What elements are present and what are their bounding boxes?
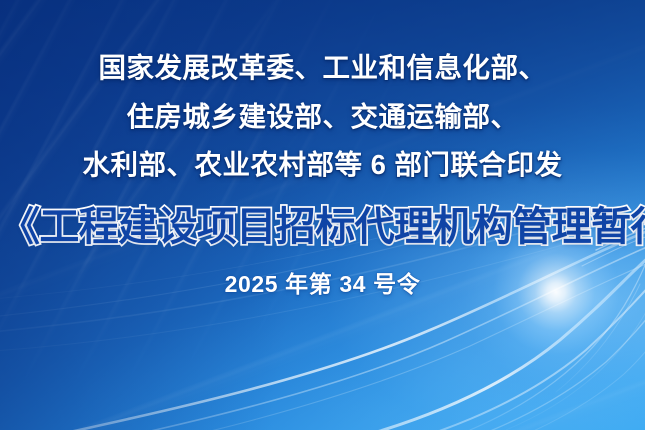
policy-announcement-poster: 国家发展改革委、工业和信息化部、 住房城乡建设部、交通运输部、 水利部、农业农村… (0, 0, 645, 430)
decree-number: 2025 年第 34 号令 (0, 273, 645, 296)
headline-line-3: 水利部、农业农村部等 6 部门联合印发 (0, 151, 645, 179)
headline-line-1: 国家发展改革委、工业和信息化部、 (0, 54, 645, 82)
document-title: 《工程建设项目招标代理机构管理暂行办法》 (0, 206, 645, 249)
poster-text-content: 国家发展改革委、工业和信息化部、 住房城乡建设部、交通运输部、 水利部、农业农村… (0, 0, 645, 430)
headline-line-2: 住房城乡建设部、交通运输部、 (0, 103, 645, 131)
